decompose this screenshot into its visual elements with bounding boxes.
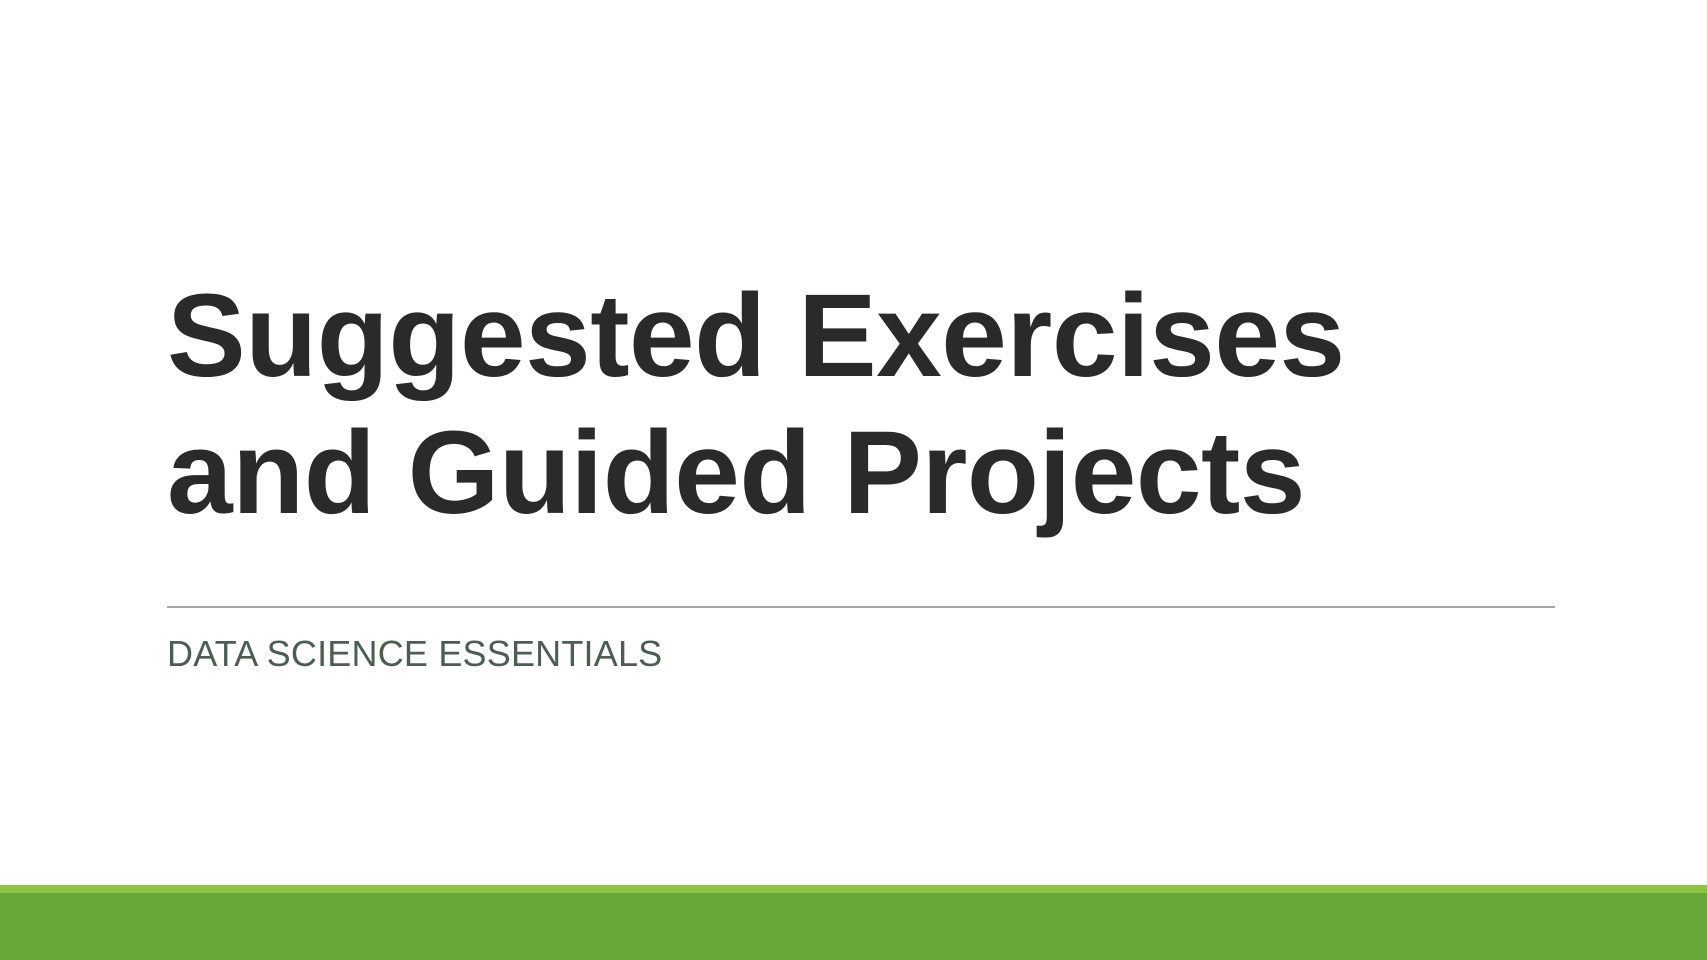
page-title: Suggested Exercises and Guided Projects [167, 268, 1557, 542]
slide-subtitle: DATA SCIENCE ESSENTIALS [167, 631, 662, 676]
presentation-slide: Suggested Exercises and Guided Projects … [0, 0, 1707, 960]
accent-band-main: 250 [0, 893, 1707, 960]
accent-band-light [0, 885, 1707, 893]
title-block: Suggested Exercises and Guided Projects [167, 268, 1557, 542]
title-divider [167, 606, 1555, 608]
